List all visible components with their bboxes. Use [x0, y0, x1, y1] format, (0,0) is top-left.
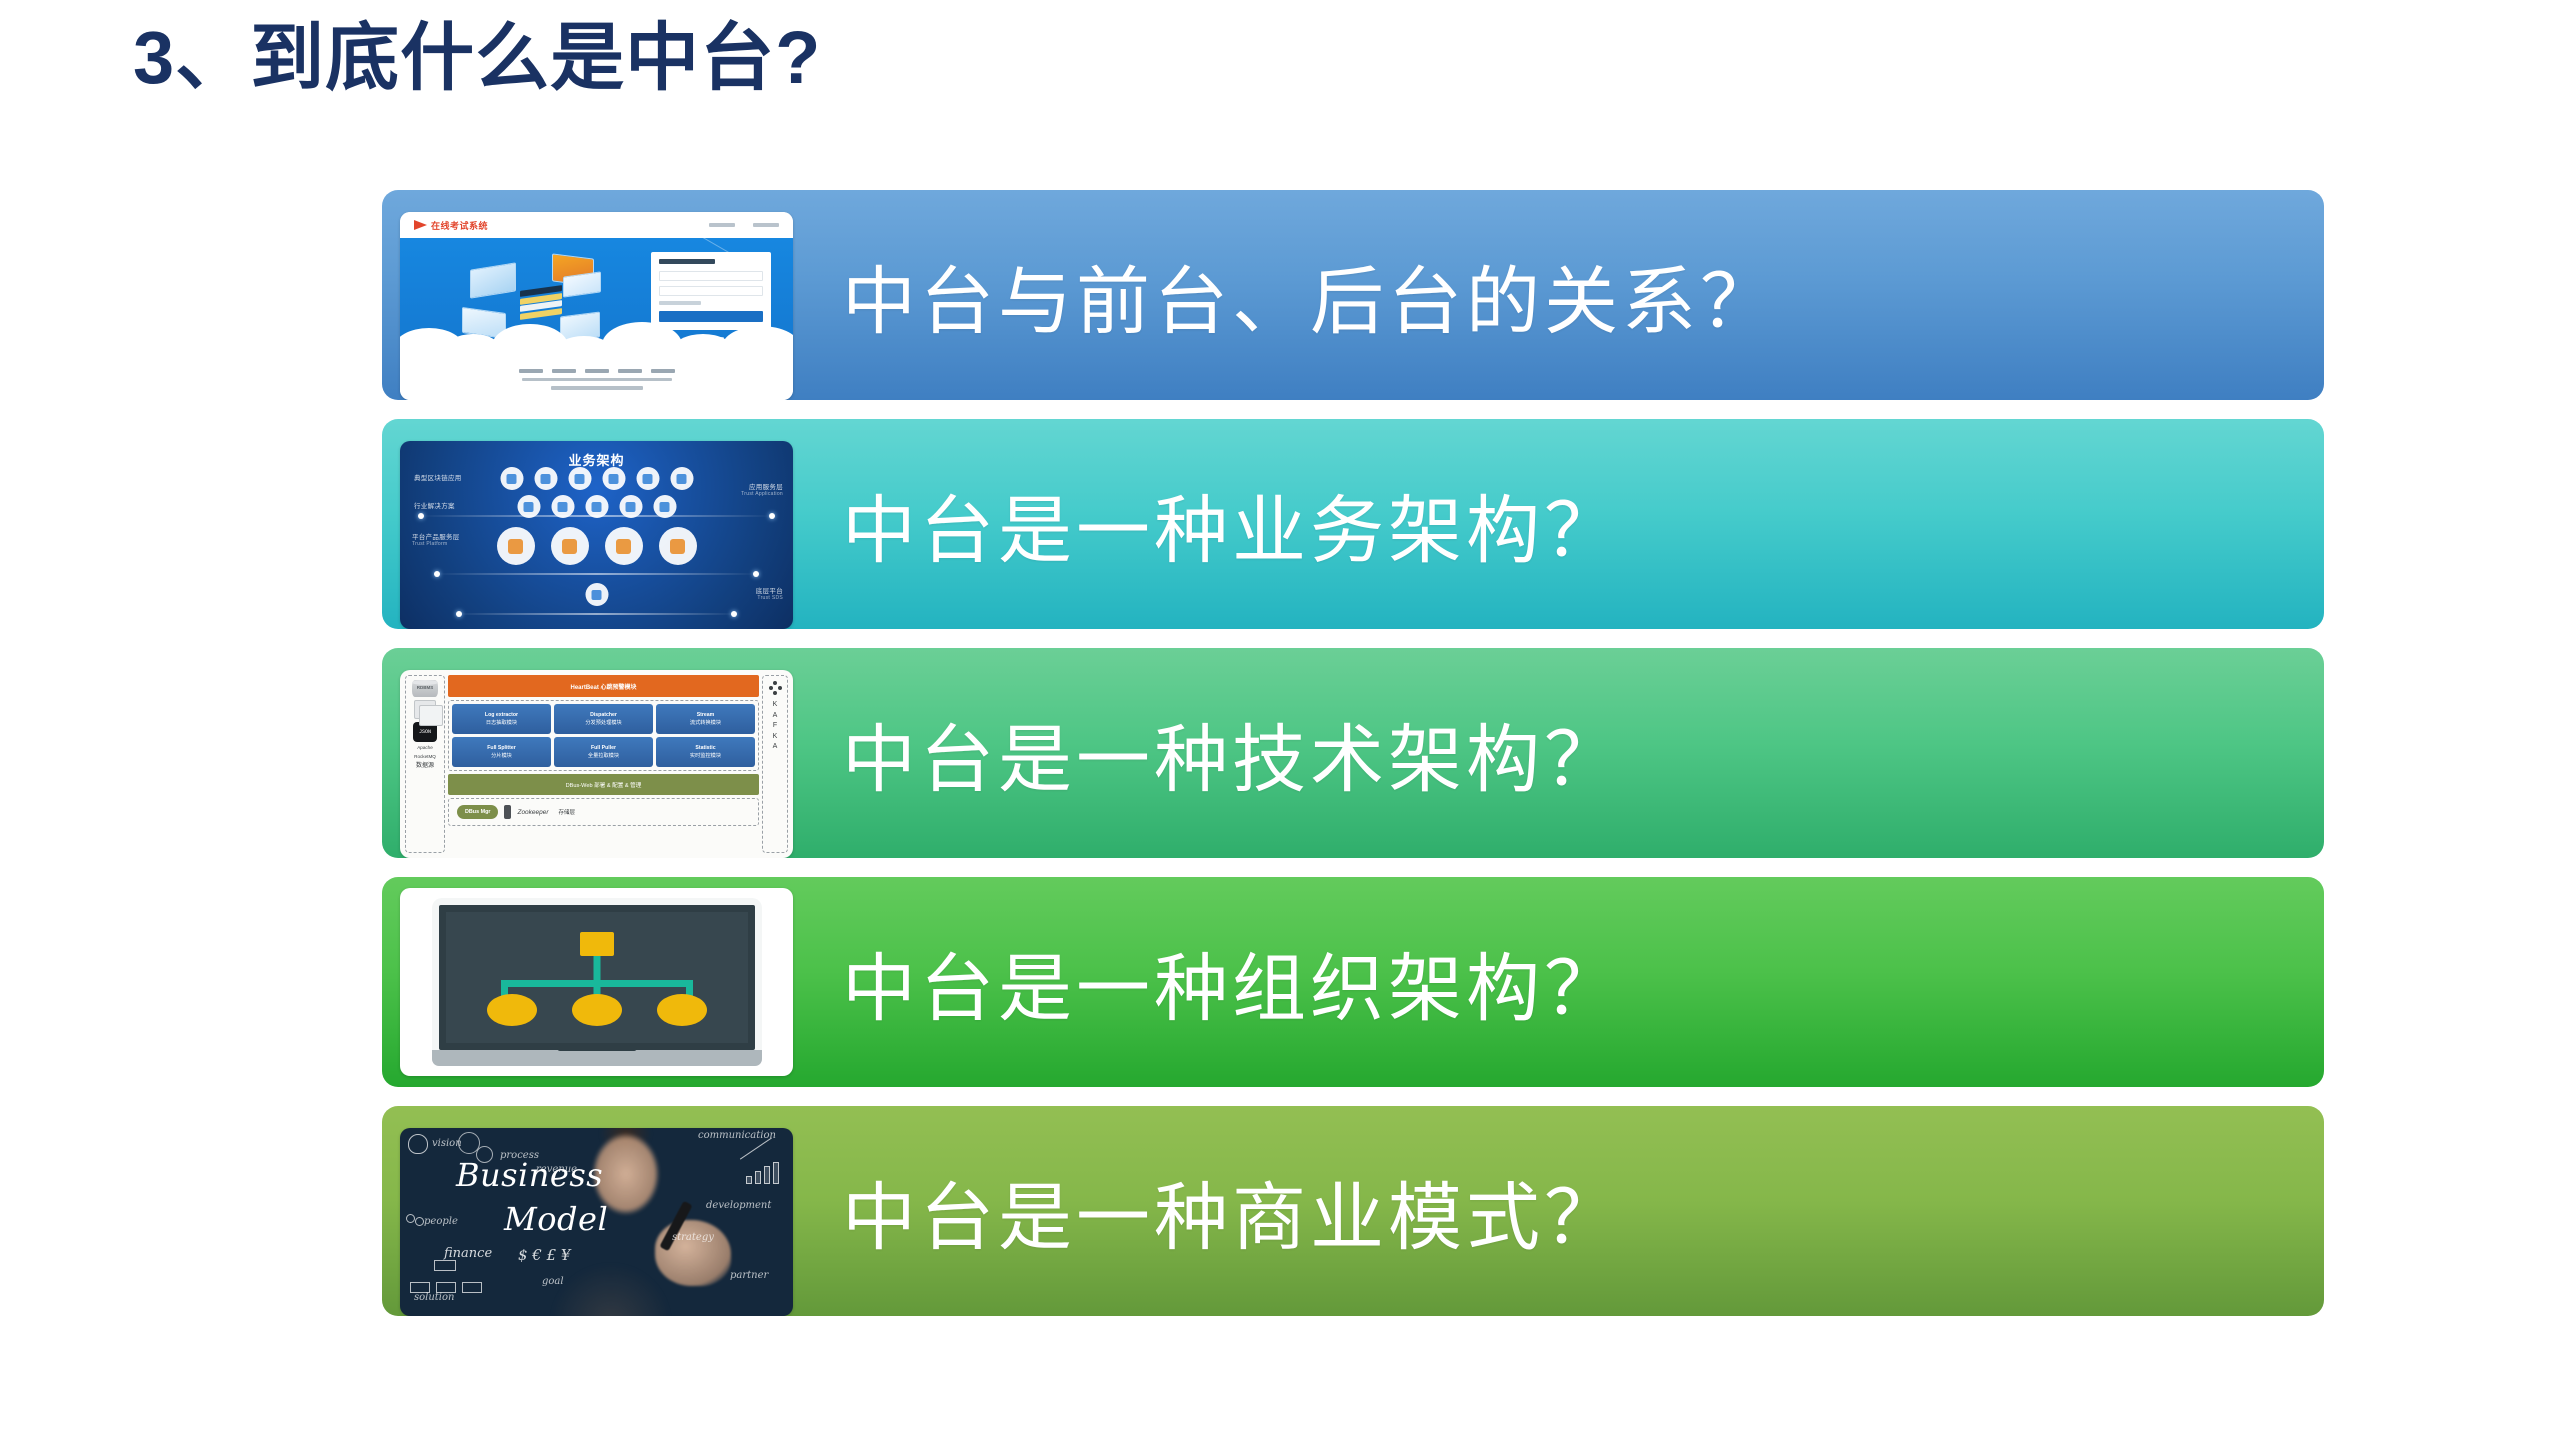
keyword-development: development — [706, 1200, 771, 1211]
module-full-puller: Full Puller全量拉取模块 — [554, 737, 653, 767]
module-statistic: Statistic实时监控模块 — [656, 737, 755, 767]
log-files-icon — [414, 700, 436, 719]
books-stack-icon — [520, 288, 562, 318]
heartbeat-module: HeartBeat 心跳预警模块 — [448, 675, 759, 697]
keyword-communication: communication — [698, 1130, 776, 1141]
paper-plane-icon — [414, 220, 427, 230]
bar-chart-icon — [746, 1162, 779, 1184]
footer-copyright — [522, 378, 672, 382]
thumb3-kafka-column: KAFKA — [762, 675, 788, 853]
bank-icon — [500, 467, 523, 490]
hand-photo — [655, 1220, 731, 1286]
monitor-icon — [470, 262, 516, 298]
topic-label-3: 中台是一种技术架构？ — [842, 700, 1622, 807]
laptop-base — [432, 1050, 762, 1066]
thumbnail-org-chart-laptop-illustration[interactable] — [400, 888, 793, 1076]
thumb2-node-left-3 — [456, 611, 462, 617]
insurance-icon — [534, 467, 557, 490]
thumb3-datasource-column: RDBMS JSON Apache RocketMQ 数据源 — [405, 675, 445, 853]
shared-ledger-icon — [605, 527, 643, 565]
topic-list: 在线考试系统 — [382, 190, 2324, 1335]
thumb2-layer3-cn: 底层平台 — [756, 585, 783, 595]
thumb2-left-label-1: 典型区块链应用 — [414, 472, 462, 482]
storage-layer-label: 存储层 — [559, 808, 576, 816]
datasource-label: 数据源 — [416, 763, 434, 771]
keyword-people: people — [424, 1216, 458, 1227]
currency-symbols: $ € £ ¥ — [518, 1246, 570, 1264]
thumbnail-dbus-technical-architecture[interactable]: RDBMS JSON Apache RocketMQ 数据源 HeartBeat… — [400, 670, 793, 858]
footer-links — [519, 369, 675, 373]
topic-row-4[interactable]: 中台是一种组织架构？ — [382, 877, 2324, 1087]
headline-model: Model — [504, 1200, 608, 1238]
module-full-splitter: Full Splitter分片模块 — [452, 737, 551, 767]
org-chart-sketch-icon — [410, 1260, 482, 1294]
thumb1-footer — [400, 358, 793, 400]
zookeeper-mascot-icon — [504, 805, 511, 819]
thumb2-divider-2 — [435, 573, 757, 575]
headline-business: Business — [456, 1156, 603, 1194]
laptop-screen — [439, 905, 755, 1050]
apache-label: Apache — [417, 745, 433, 751]
thumb3-bottom-row: DBus Mgr Zookeeper 存储层 — [448, 798, 759, 826]
module-dispatcher: Dispatcher分发预处理模块 — [554, 704, 653, 734]
thumb2-left-label-2: 行业解决方案 — [414, 500, 455, 510]
org-node-root — [580, 932, 614, 956]
thumbnail-business-model-blackboard-photo[interactable]: vision process revenue communication dev… — [400, 1128, 793, 1316]
topic-label-5: 中台是一种商业模式？ — [842, 1158, 1622, 1265]
login-card-title — [659, 259, 715, 264]
password-field[interactable] — [659, 286, 763, 296]
topic-row-1[interactable]: 在线考试系统 — [382, 190, 2324, 400]
thumb2-node-right-1 — [769, 513, 775, 519]
topic-row-2[interactable]: 业务架构 典型区块链应用 行业解决方案 — [382, 419, 2324, 629]
thumb2-platform-icons — [497, 527, 697, 565]
dbus-mgr-chip: DBus Mgr — [457, 805, 498, 819]
keyword-finance: finance — [444, 1246, 492, 1261]
thumb2-node-right-2 — [753, 571, 759, 577]
thumb2-layer1-en: Trust Application — [741, 491, 783, 497]
kafka-logo-icon — [769, 681, 782, 695]
org-node-center — [572, 994, 622, 1026]
footer-icp — [551, 386, 643, 390]
blockchain-base-icon — [585, 583, 608, 606]
keyword-partner: partner — [730, 1270, 768, 1281]
more-icon — [670, 467, 693, 490]
thumb2-app-icons-row1 — [500, 467, 693, 490]
thumb3-module-grid: Log extractor日志抽取模块 Dispatcher分发预处理模块 St… — [448, 700, 759, 771]
topic-row-3[interactable]: RDBMS JSON Apache RocketMQ 数据源 HeartBeat… — [382, 648, 2324, 858]
remember-me-checkbox[interactable] — [659, 301, 701, 305]
topic-label-4: 中台是一种组织架构？ — [842, 929, 1622, 1036]
thumb2-divider-3 — [455, 613, 738, 615]
thumbnail-online-exam-login-page[interactable]: 在线考试系统 — [400, 212, 793, 400]
lightbulb-icon — [408, 1134, 428, 1154]
document-card-icon — [563, 271, 601, 297]
username-field[interactable] — [659, 271, 763, 281]
login-button[interactable] — [659, 311, 763, 322]
dbus-web-module: DBus-Web 部署 & 配置 & 管理 — [448, 774, 759, 795]
topic-label-1: 中台与前台、后台的关系？ — [842, 242, 1778, 349]
authentication-icon — [551, 527, 589, 565]
org-node-left — [487, 994, 537, 1026]
thumb2-node-left-2 — [434, 571, 440, 577]
thumb1-hero — [400, 238, 793, 358]
module-stream: Stream流式转换模块 — [656, 704, 755, 734]
securities-icon — [568, 467, 591, 490]
thumb2-base-icon-row — [585, 583, 608, 606]
slide-canvas: 3、到底什么是中台? 在线考试系统 — [0, 0, 2560, 1440]
zookeeper-label: Zookeeper — [517, 809, 548, 816]
thumb2-layer2-cn: 平台产品服务层 — [412, 531, 460, 541]
people-sketch-icon — [406, 1214, 428, 1228]
topic-row-5[interactable]: vision process revenue communication dev… — [382, 1106, 2324, 1316]
thumb1-nav-links — [709, 223, 779, 227]
keyword-vision: vision — [432, 1138, 462, 1149]
thumb1-navbar: 在线考试系统 — [400, 212, 793, 238]
module-log-extractor: Log extractor日志抽取模块 — [452, 704, 551, 734]
billing-tech-icon — [659, 527, 697, 565]
cloud-decor — [400, 324, 793, 358]
thumb1-logo-text: 在线考试系统 — [431, 219, 488, 232]
page-title: 3、到底什么是中台? — [133, 14, 821, 101]
rdbms-icon: RDBMS — [412, 680, 438, 697]
topic-label-2: 中台是一种业务架构？ — [842, 471, 1622, 578]
laptop-icon — [432, 898, 762, 1066]
digital-asset-icon — [497, 527, 535, 565]
thumb2-layer1-cn: 应用服务层 — [749, 481, 783, 491]
thumb2-layer3-en: Trust SDS — [757, 595, 783, 601]
thumb3-main-column: HeartBeat 心跳预警模块 Log extractor日志抽取模块 Dis… — [445, 675, 762, 853]
thumb2-node-right-3 — [731, 611, 737, 617]
org-chart-diagram — [487, 932, 707, 1024]
lease-icon — [602, 467, 625, 490]
keyword-goal: goal — [542, 1276, 564, 1287]
thumb1-login-card[interactable] — [651, 252, 771, 330]
kafka-label: KAFKA — [773, 700, 778, 753]
thumb2-divider-1 — [420, 515, 774, 517]
keyword-strategy: strategy — [672, 1232, 714, 1243]
thumbnail-business-architecture-pyramid[interactable]: 业务架构 典型区块链应用 行业解决方案 — [400, 441, 793, 629]
rocketmq-label: RocketMQ — [414, 754, 436, 760]
thumb2-node-left-1 — [418, 513, 424, 519]
factoring-icon — [636, 467, 659, 490]
org-node-right — [657, 994, 707, 1026]
thumb2-layer2-en: Trust Platform — [412, 541, 447, 547]
